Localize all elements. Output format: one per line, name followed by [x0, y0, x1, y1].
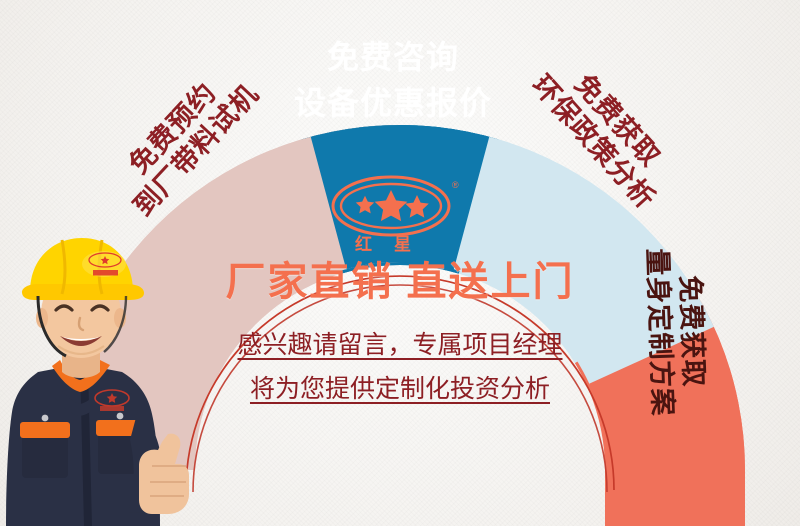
worker-mascot: [0, 226, 215, 526]
headline: 厂家直销 直送上门: [200, 260, 600, 304]
center-content: ® 红星 厂家直销 直送上门 感兴趣请留言，专属项目经理 将为您提供定制化投资分…: [200, 170, 600, 412]
logo: ® 红星: [200, 170, 600, 256]
logo-brand-text: 红星: [355, 234, 433, 254]
promo-banner: 免费预约 到厂带料试机 免费咨询 设备优惠报价 免费获取 环保政策分析 免费获取…: [0, 0, 800, 526]
subcopy: 感兴趣请留言，专属项目经理 将为您提供定制化投资分析: [200, 324, 600, 412]
subcopy-line-2: 将为您提供定制化投资分析: [200, 368, 600, 412]
worker-pocket-left: [22, 434, 68, 478]
worker-button-right: [117, 413, 124, 420]
hongxing-logo-icon: ® 红星: [325, 170, 475, 256]
worker-pocket-flap-left: [20, 422, 70, 438]
subcopy-line-1: 感兴趣请留言，专属项目经理: [200, 324, 600, 368]
worker-button-left: [42, 415, 49, 422]
registered-mark: ®: [452, 180, 459, 190]
